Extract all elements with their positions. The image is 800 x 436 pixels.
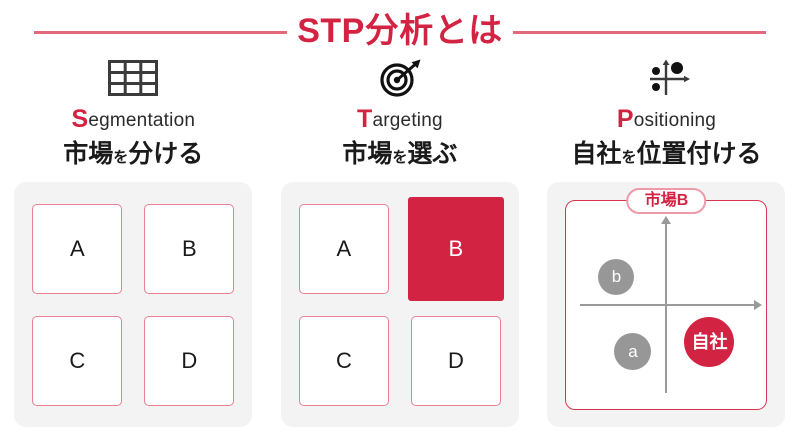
title-rule-right (513, 31, 766, 34)
eng-rest-targeting: argeting (373, 110, 443, 131)
target-box-c[interactable]: C (299, 316, 389, 406)
panel-segmentation: A B C D (14, 182, 252, 427)
jp-particle-targeting: を (392, 149, 407, 166)
segment-grid-targeting: A B C D (299, 204, 501, 406)
competitor-dot-b[interactable]: b (598, 259, 634, 295)
column-positioning: Positioning 自社を位置付ける 市場B b a 自社 (533, 55, 800, 430)
title-row: STP分析とは (0, 6, 800, 58)
axis-vertical (665, 223, 667, 393)
title-rule-left (34, 31, 287, 34)
jp-particle-segmentation: を (113, 149, 128, 166)
jp-part2-positioning: 位置付ける (636, 140, 761, 168)
own-company-dot[interactable]: 自社 (684, 317, 734, 367)
eng-label-targeting: Targeting (357, 107, 443, 132)
column-segmentation: Segmentation 市場を分ける A B C D (0, 55, 267, 430)
jp-label-positioning: 自社を位置付ける (571, 141, 761, 169)
axis-horizontal (580, 304, 756, 306)
target-box-b-selected[interactable]: B (408, 197, 504, 301)
eng-initial-p: P (617, 105, 634, 133)
jp-part2-segmentation: 分ける (128, 140, 203, 168)
scatter-axes-icon (640, 55, 692, 101)
jp-part1-segmentation: 市場 (63, 140, 113, 168)
column-targeting: Targeting 市場を選ぶ A B C D (267, 55, 534, 430)
target-arrow-icon (375, 55, 425, 101)
axis-arrow-right-icon (754, 300, 762, 310)
axis-arrow-up-icon (661, 216, 671, 224)
segment-box-c[interactable]: C (32, 316, 122, 406)
eng-initial-t: T (357, 105, 372, 133)
panel-positioning: 市場B b a 自社 (547, 182, 785, 427)
segment-grid-segmentation: A B C D (32, 204, 234, 406)
eng-label-positioning: Positioning (617, 107, 716, 132)
columns-container: Segmentation 市場を分ける A B C D (0, 55, 800, 430)
segment-box-b[interactable]: B (144, 204, 234, 294)
eng-rest-positioning: ositioning (634, 110, 716, 131)
jp-label-segmentation: 市場を分ける (63, 141, 203, 169)
target-box-a[interactable]: A (299, 204, 389, 294)
jp-label-targeting: 市場を選ぶ (342, 141, 457, 169)
eng-rest-segmentation: egmentation (88, 110, 195, 131)
positioning-map: 市場B b a 自社 (565, 200, 767, 410)
eng-label-segmentation: Segmentation (71, 107, 195, 132)
segment-box-a[interactable]: A (32, 204, 122, 294)
jp-particle-positioning: を (621, 149, 636, 166)
panel-targeting: A B C D (281, 182, 519, 427)
target-box-d[interactable]: D (411, 316, 501, 406)
market-label-badge: 市場B (627, 188, 707, 215)
competitor-dot-a[interactable]: a (614, 333, 651, 370)
infographic-root: STP分析とは Segmentation 市場を分ける (0, 0, 800, 436)
jp-part2-targeting: 選ぶ (407, 140, 457, 168)
jp-part1-positioning: 自社 (571, 140, 621, 168)
jp-part1-targeting: 市場 (342, 140, 392, 168)
segment-box-d[interactable]: D (144, 316, 234, 406)
page-title: STP分析とは (297, 14, 503, 51)
grid-table-icon (108, 55, 158, 101)
eng-initial-s: S (71, 105, 88, 133)
